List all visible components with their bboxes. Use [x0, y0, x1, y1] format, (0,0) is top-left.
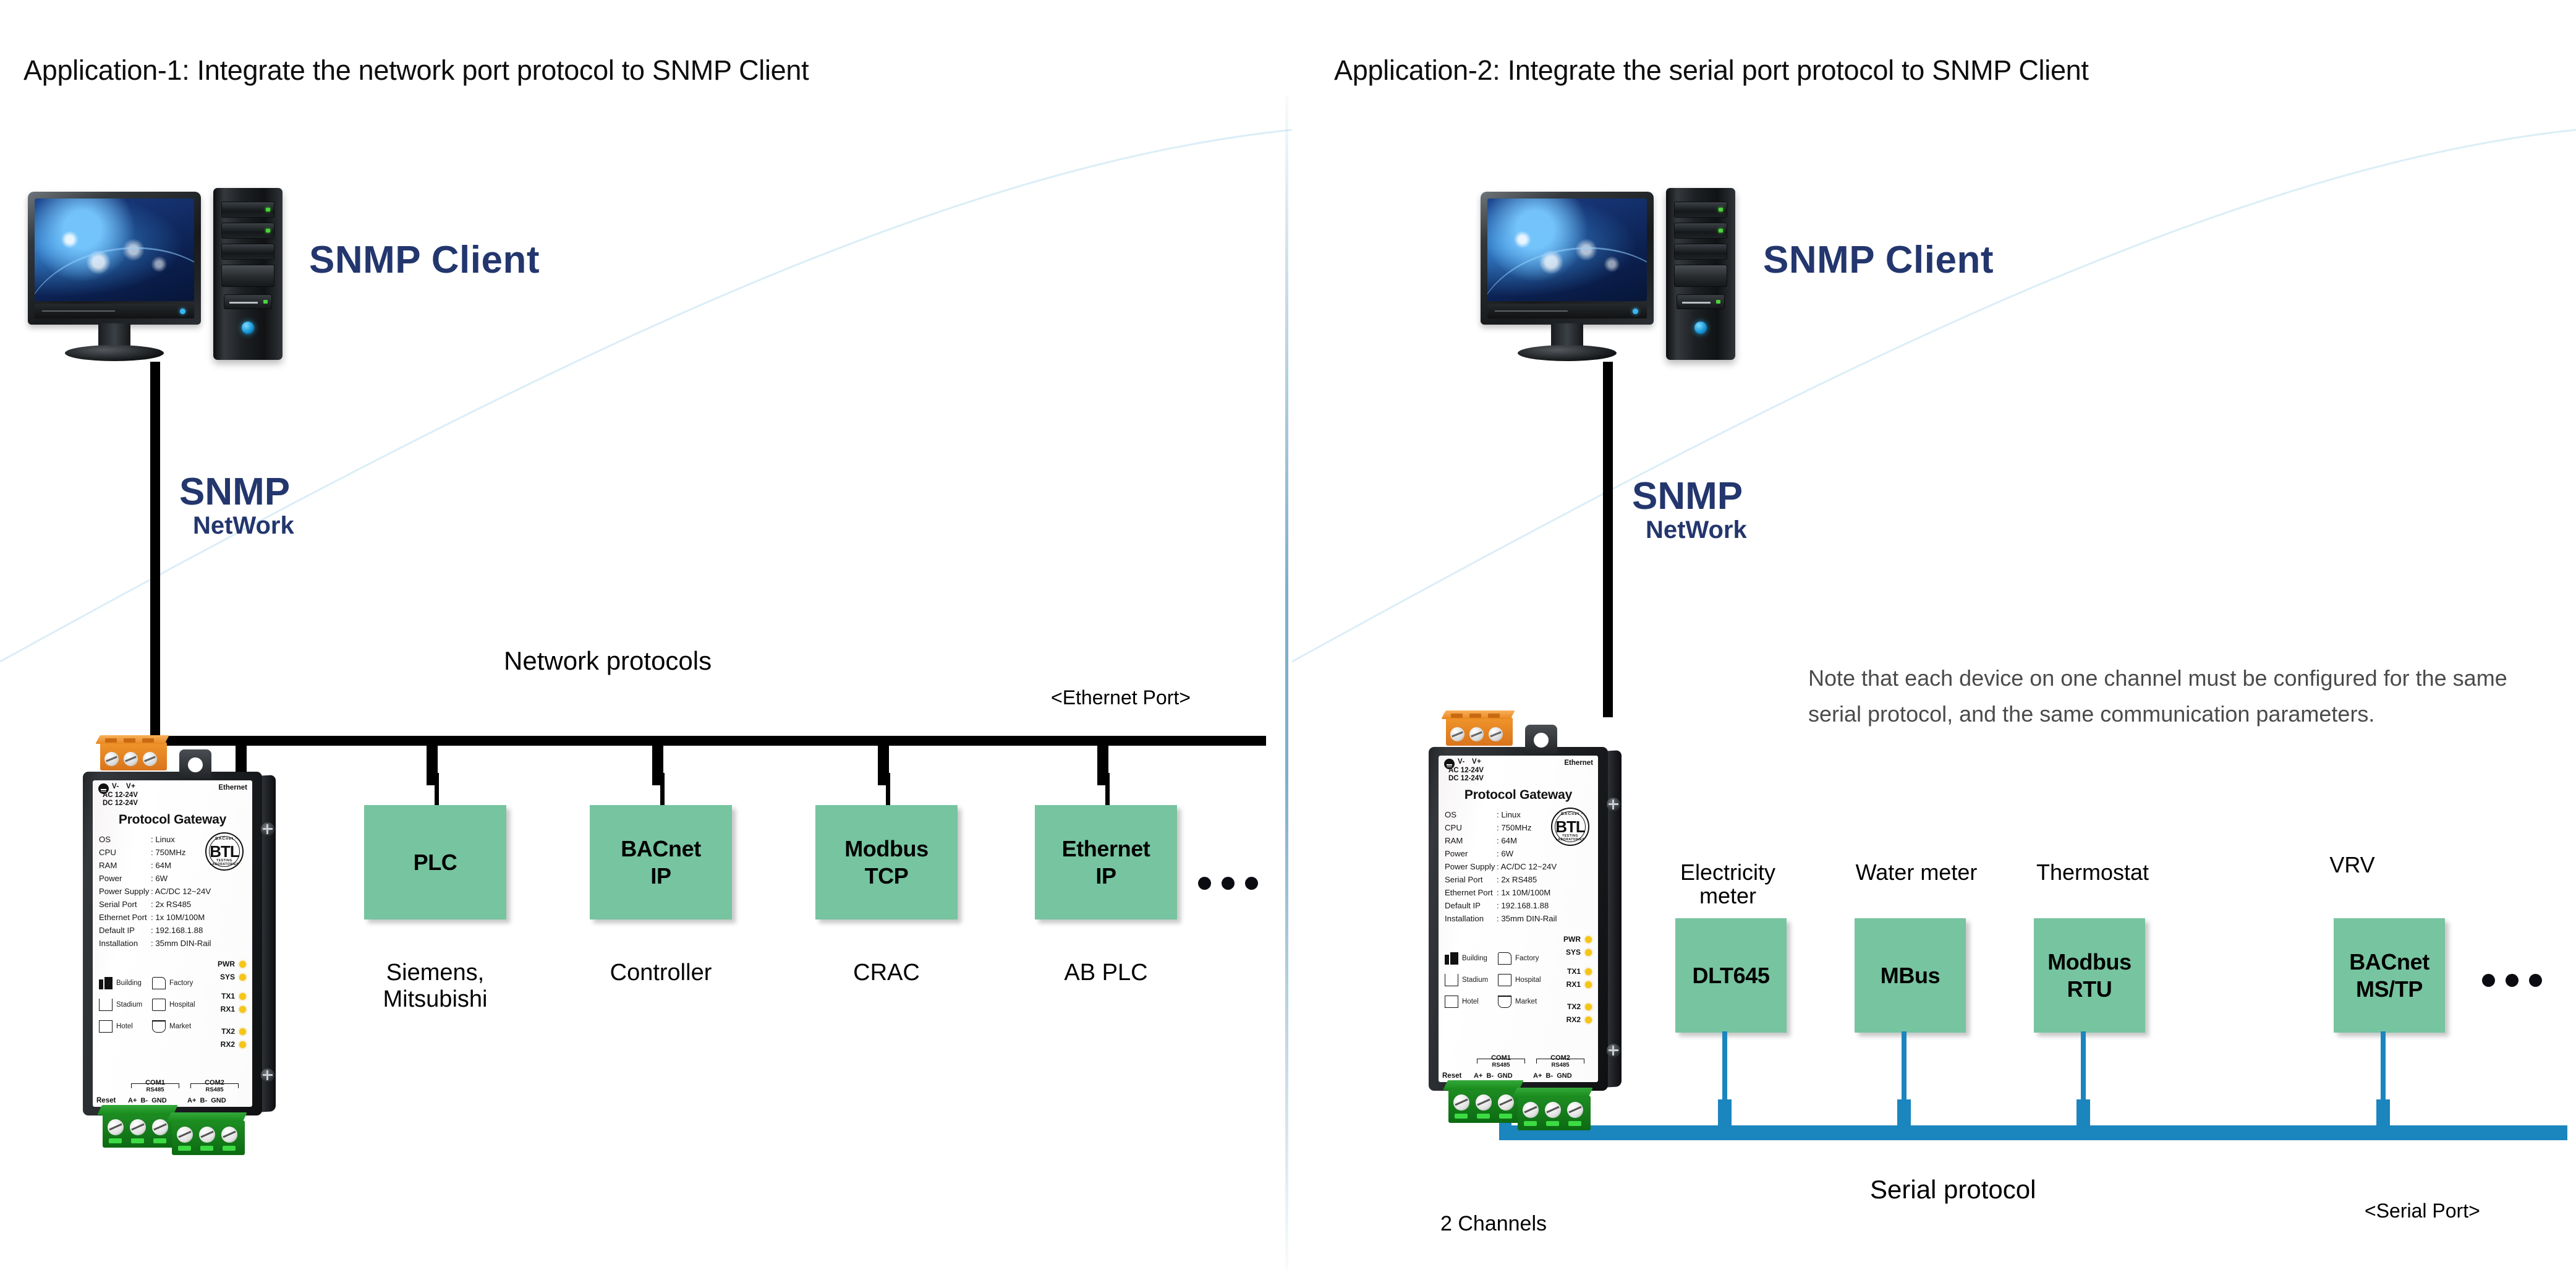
led-rx2: RX2: [1566, 1015, 1592, 1024]
protocol-gateway-left[interactable]: V- V+ AC 12-24V DC 12-24V Ethernet Proto…: [79, 730, 283, 1156]
com1-terminal-block: [1448, 1088, 1521, 1123]
protocol-gateway-right[interactable]: V- V+ AC 12-24V DC 12-24V Ethernet Proto…: [1425, 705, 1629, 1132]
case-screw-icon: [261, 822, 274, 836]
power-button-icon-right: [1694, 322, 1707, 334]
led-tx1: TX1: [221, 992, 246, 1000]
protocol-box-label: Ethernet IP: [1062, 835, 1150, 890]
device-caption-crac: CRAC: [778, 960, 995, 986]
protocol-box-bacnet-ip[interactable]: BACnet IP: [590, 805, 732, 919]
app-stadium: Stadium: [1445, 974, 1488, 986]
factory-icon: [152, 977, 166, 989]
device-faceplate: V- V+ AC 12-24V DC 12-24V Ethernet Proto…: [1439, 756, 1598, 1082]
device-caption-controller: Controller: [553, 960, 769, 986]
app-building: Building: [99, 977, 142, 989]
device-drop-line: [1105, 773, 1110, 807]
snmp-uplink-line-left: [150, 362, 160, 745]
din-mount-hole: [179, 749, 211, 779]
app-hotel: Hotel: [99, 1020, 133, 1033]
device-drop-line: [435, 773, 439, 807]
hospital-icon: [152, 999, 166, 1011]
monitor-right: [1481, 192, 1654, 325]
power-terminal-block: [100, 742, 167, 770]
hospital-icon: [1498, 974, 1511, 986]
case-screw-icon: [1607, 798, 1620, 811]
led-tx1: TX1: [1567, 967, 1592, 976]
hotel-icon: [1445, 996, 1458, 1008]
protocol-box-plc[interactable]: PLC: [364, 805, 506, 919]
gateway-product-title: Protocol Gateway: [1439, 788, 1598, 803]
snmp-network-line1-right: SNMP: [1632, 477, 1747, 516]
snmp-client-label-right: SNMP Client: [1763, 238, 1994, 282]
monitor-base-right: [1518, 345, 1617, 361]
ethernet-port-label: Ethernet: [218, 784, 247, 791]
building-icon: [99, 977, 113, 989]
device-caption-siemens: Siemens, Mitsubishi: [327, 960, 543, 1012]
device-top-label-electricity-meter: Electricity meter: [1638, 861, 1817, 908]
com2-pins: A+ B- GND: [1533, 1072, 1572, 1080]
monitor-led-left: [180, 309, 185, 314]
monitor-neck-left: [98, 323, 130, 348]
app-stadium: Stadium: [99, 999, 142, 1011]
case-screw-icon: [1607, 1044, 1620, 1057]
snmp-network-label-right: SNMP NetWork: [1632, 477, 1747, 544]
com1-group: COM1 RS485: [131, 1079, 179, 1093]
more-devices-ellipsis-left: [1198, 877, 1258, 890]
serial-bus: [1499, 1125, 2567, 1140]
background-arc-right: [1292, 93, 2576, 711]
snmp-network-line1-left: SNMP: [179, 473, 294, 511]
com2-group: COM2 RS485: [190, 1079, 239, 1093]
device-drop-line: [886, 773, 890, 807]
protocol-box-mbus[interactable]: MBus: [1855, 918, 1966, 1033]
monitor-chin-right: [1487, 304, 1647, 318]
device-top-label-water-meter: Water meter: [1827, 861, 2006, 884]
device-drop-line: [660, 773, 665, 807]
led-tx2: TX2: [1567, 1002, 1592, 1011]
protocol-box-ethernet-ip[interactable]: Ethernet IP: [1035, 805, 1177, 919]
power-button-icon-left: [242, 322, 254, 334]
device-faceplate: V- V+ AC 12-24V DC 12-24V Ethernet Proto…: [93, 780, 252, 1107]
pc-tower-left: [213, 188, 283, 360]
com1-group: COM1 RS485: [1477, 1054, 1525, 1068]
com1-pins: A+ B- GND: [128, 1097, 167, 1104]
app-building: Building: [1445, 952, 1487, 965]
com2-terminal-block: [172, 1120, 245, 1155]
protocol-box-label: Modbus TCP: [844, 835, 929, 890]
serial-protocol-label: Serial protocol: [1870, 1175, 2036, 1205]
stadium-icon: [99, 999, 113, 1011]
diagram-canvas: Application-1: Integrate the network por…: [0, 0, 2576, 1288]
com2-terminal-block: [1518, 1096, 1591, 1130]
protocol-box-label: Modbus RTU: [2047, 949, 2132, 1003]
led-pwr: PWR: [1563, 935, 1592, 944]
monitor-led-right: [1633, 309, 1638, 314]
led-sys: SYS: [220, 973, 246, 981]
com2-group: COM2 RS485: [1536, 1054, 1584, 1068]
power-ac-label: AC 12-24V: [103, 791, 138, 799]
com1-terminal-block: [103, 1113, 176, 1148]
power-terminal-block: [1446, 717, 1513, 746]
din-mount-hole: [1525, 725, 1557, 754]
monitor-chin-left: [35, 304, 194, 318]
app-market: Market: [1498, 996, 1537, 1008]
network-protocols-label: Network protocols: [504, 646, 712, 676]
serial-drop-line: [2081, 1031, 2086, 1099]
monitor-screen-right: [1487, 198, 1647, 301]
protocol-box-bacnet-mstp[interactable]: BACnet MS/TP: [2334, 918, 2445, 1033]
panel-divider: [1285, 96, 1288, 1271]
app-hospital: Hospital: [1498, 974, 1541, 986]
pc-tower-right: [1666, 188, 1735, 360]
led-rx1: RX1: [1566, 980, 1592, 989]
snmp-client-label-left: SNMP Client: [309, 238, 540, 282]
led-sys: SYS: [1566, 948, 1592, 957]
ethernet-port-tag: <Ethernet Port>: [1051, 686, 1191, 709]
ethernet-port-label: Ethernet: [1564, 759, 1593, 767]
serial-port-tag: <Serial Port>: [2365, 1200, 2480, 1222]
panel-title-right: Application-2: Integrate the serial port…: [1334, 54, 2089, 87]
protocol-box-label: MBus: [1881, 962, 1940, 989]
com2-pins: A+ B- GND: [187, 1097, 226, 1104]
protocol-box-label: BACnet IP: [621, 835, 701, 890]
app-factory: Factory: [1498, 952, 1539, 965]
app-hospital: Hospital: [152, 999, 195, 1011]
device-top-label-thermostat: Thermostat: [2003, 861, 2182, 884]
hotel-icon: [99, 1020, 113, 1033]
power-ac-label: AC 12-24V: [1448, 767, 1484, 774]
channels-tag: 2 Channels: [1440, 1212, 1547, 1236]
serial-drop-line: [1722, 1031, 1727, 1099]
serial-drop-line: [2381, 1031, 2386, 1099]
market-icon: [152, 1020, 166, 1033]
reset-label: Reset: [1442, 1072, 1461, 1080]
snmp-network-line2-right: NetWork: [1632, 516, 1747, 544]
factory-icon: [1498, 952, 1511, 965]
monitor-left: [28, 192, 201, 325]
btl-certification-logo: · BACnet · BTL TESTING LABORATORIES: [205, 832, 244, 871]
protocol-box-modbus-rtu[interactable]: Modbus RTU: [2034, 918, 2145, 1033]
device-caption-ab-plc: AB PLC: [998, 960, 1214, 986]
building-icon: [1445, 952, 1458, 965]
device-top-label-vrv: VRV: [2297, 853, 2408, 877]
power-polarity-label: V- V+: [112, 783, 135, 790]
power-polarity-label: V- V+: [1458, 758, 1481, 766]
led-pwr: PWR: [218, 960, 246, 968]
more-devices-ellipsis-right: [2482, 974, 2542, 987]
led-tx2: TX2: [221, 1027, 246, 1036]
btl-certification-logo: · BACnet · BTL TESTING LABORATORIES: [1551, 808, 1589, 846]
panel-title-left: Application-1: Integrate the network por…: [23, 54, 809, 87]
background-arc-left: [0, 93, 1292, 711]
serial-configuration-note: Note that each device on one channel mus…: [1808, 660, 2538, 733]
market-icon: [1498, 996, 1511, 1008]
protocol-box-modbus-tcp[interactable]: Modbus TCP: [815, 805, 958, 919]
app-market: Market: [152, 1020, 191, 1033]
power-dc-label: DC 12-24V: [1448, 775, 1484, 782]
power-dc-label: DC 12-24V: [103, 800, 138, 807]
monitor-base-left: [65, 345, 164, 361]
com1-pins: A+ B- GND: [1474, 1072, 1513, 1080]
protocol-box-label: DLT645: [1693, 962, 1770, 989]
snmp-network-line2-left: NetWork: [179, 511, 294, 540]
serial-drop-line: [1902, 1031, 1906, 1099]
protocol-box-label: BACnet MS/TP: [2349, 949, 2429, 1003]
stadium-icon: [1445, 974, 1458, 986]
monitor-screen-left: [35, 198, 194, 301]
monitor-neck-right: [1551, 323, 1583, 348]
protocol-box-dlt645[interactable]: DLT645: [1675, 918, 1787, 1033]
snmp-client-computer-right: [1481, 192, 1740, 365]
protocol-box-label: PLC: [414, 849, 457, 876]
app-factory: Factory: [152, 977, 193, 989]
reset-label: Reset: [96, 1097, 116, 1104]
snmp-network-label-left: SNMP NetWork: [179, 473, 294, 540]
app-hotel: Hotel: [1445, 996, 1479, 1008]
case-screw-icon: [261, 1068, 274, 1082]
snmp-uplink-line-right: [1603, 362, 1613, 717]
led-rx1: RX1: [221, 1005, 246, 1013]
snmp-client-computer-left: [28, 192, 287, 365]
led-rx2: RX2: [221, 1040, 246, 1049]
gateway-product-title: Protocol Gateway: [93, 812, 252, 827]
